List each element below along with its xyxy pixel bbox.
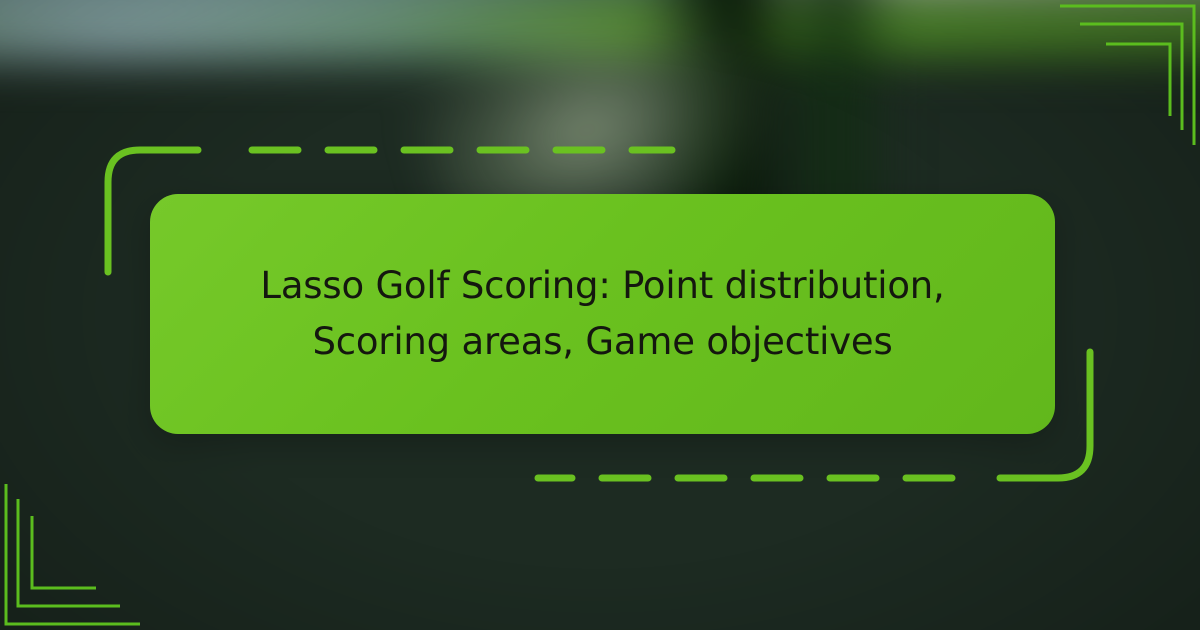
headline-card: Lasso Golf Scoring: Point distribution, … — [150, 194, 1055, 434]
share-card-canvas: Lasso Golf Scoring: Point distribution, … — [0, 0, 1200, 630]
page-title: Lasso Golf Scoring: Point distribution, … — [206, 258, 999, 370]
